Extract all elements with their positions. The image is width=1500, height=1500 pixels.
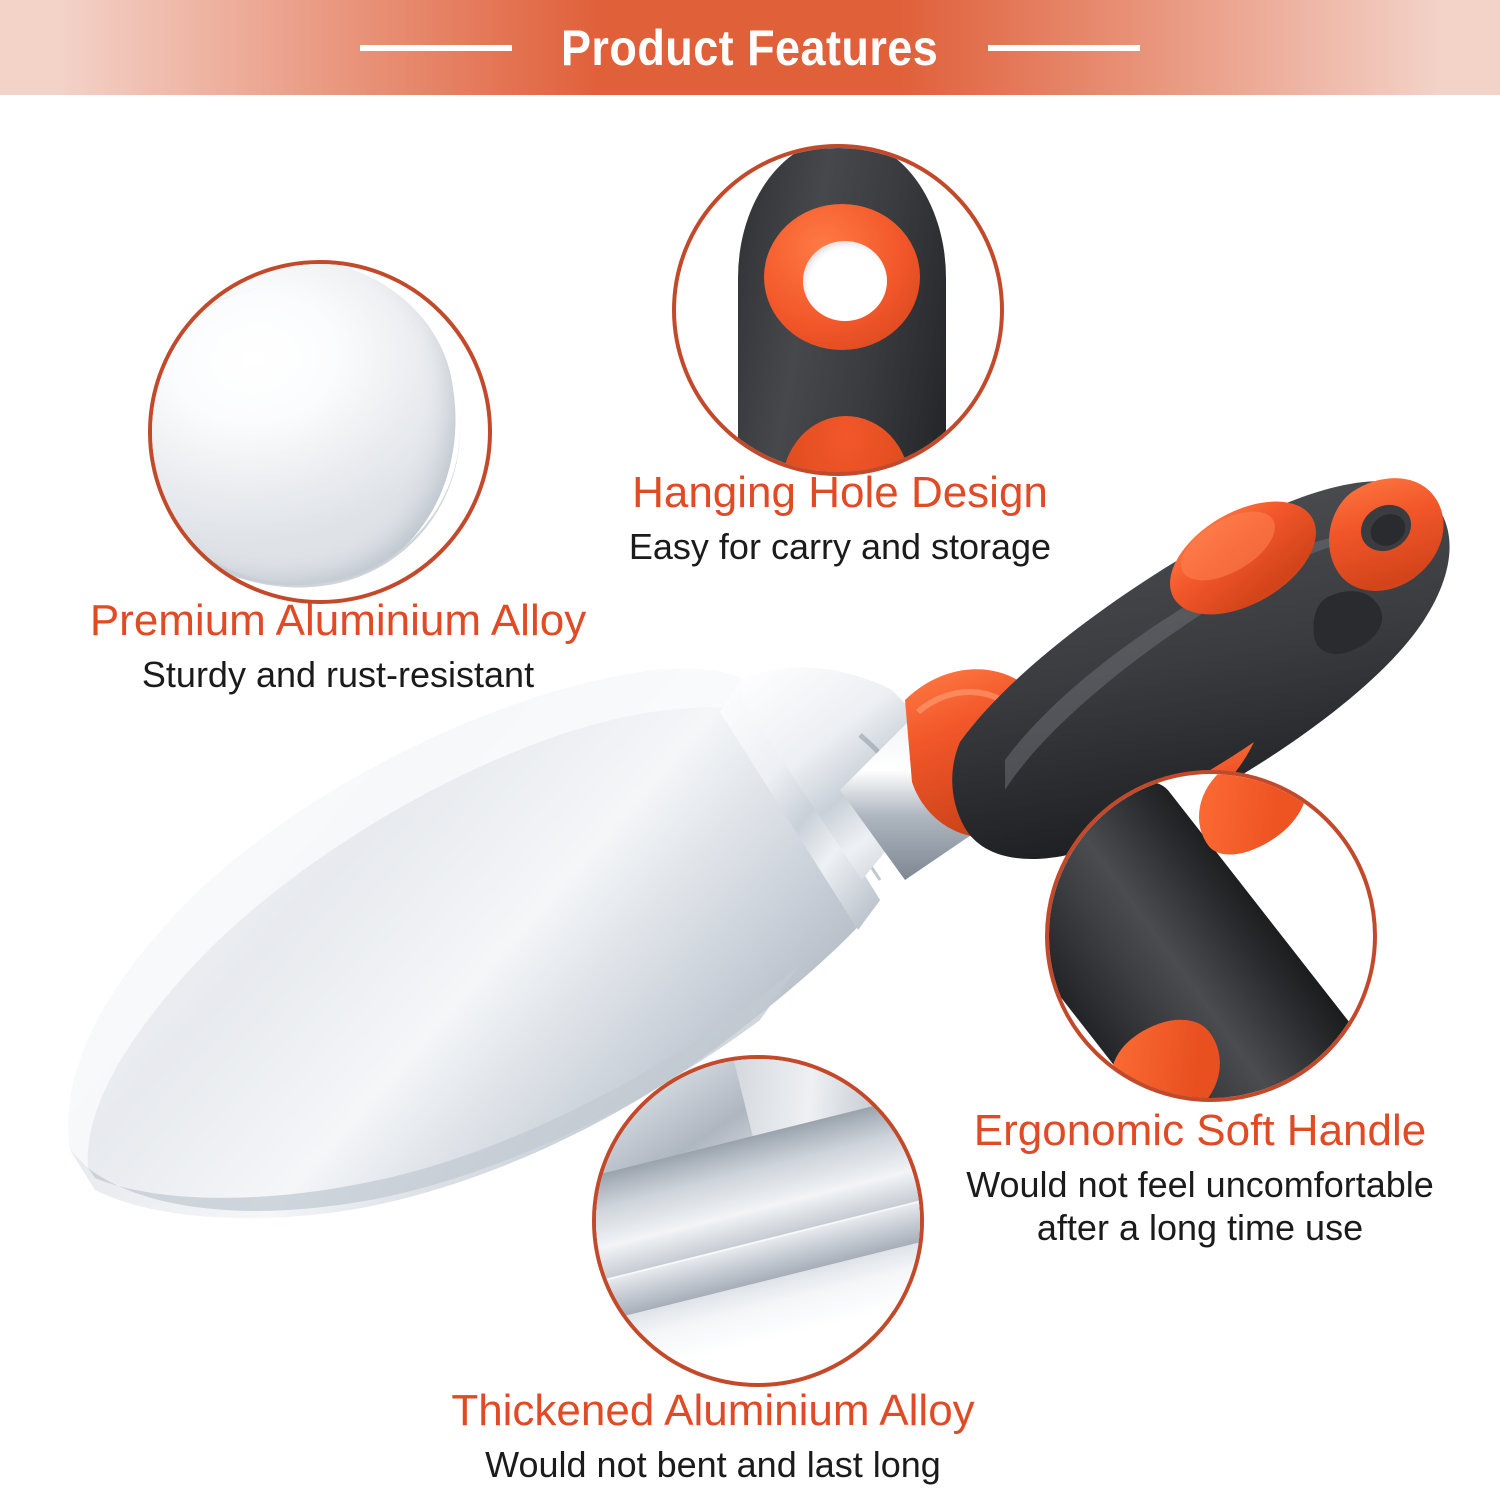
feature-title: Thickened Aluminium Alloy [388,1388,1038,1434]
feature-subtitle: Would not bent and last long [388,1444,1038,1486]
feature-title: Ergonomic Soft Handle [910,1108,1490,1154]
hole-aperture-icon [803,241,887,321]
handle-grip-pad [1151,478,1336,638]
feature-subtitle-line2: after a long time use [910,1207,1490,1249]
feature-subtitle: Easy for carry and storage [560,526,1120,568]
trowel-shaft [840,680,1038,880]
feature-title: Premium Aluminium Alloy [18,598,658,644]
feature-text-thickened-aluminium-alloy: Thickened Aluminium Alloy Would not bent… [388,1388,1038,1487]
page-title: Product Features [561,19,938,77]
callout-premium-aluminium-alloy [148,260,492,604]
header-banner: Product Features [0,0,1500,95]
trowel-ferrule [905,669,1062,838]
feature-text-premium-aluminium-alloy: Premium Aluminium Alloy Sturdy and rust-… [18,598,658,697]
header-rule-right-icon [988,45,1140,51]
feature-text-hanging-hole-design: Hanging Hole Design Easy for carry and s… [560,470,1120,569]
blade-edge-line-icon [148,263,481,604]
feature-subtitle: Sturdy and rust-resistant [18,654,658,696]
callout-hanging-hole-design [672,144,1004,476]
feature-title: Hanging Hole Design [560,470,1120,516]
feature-text-ergonomic-soft-handle: Ergonomic Soft Handle Would not feel unc… [910,1108,1490,1249]
header-rule-left-icon [360,45,512,51]
callout-thickened-aluminium-alloy [592,1055,924,1387]
callout-ergonomic-soft-handle [1045,770,1377,1102]
handle-hanging-hole [1329,478,1443,591]
feature-subtitle-line1: Would not feel uncomfortable [910,1164,1490,1206]
